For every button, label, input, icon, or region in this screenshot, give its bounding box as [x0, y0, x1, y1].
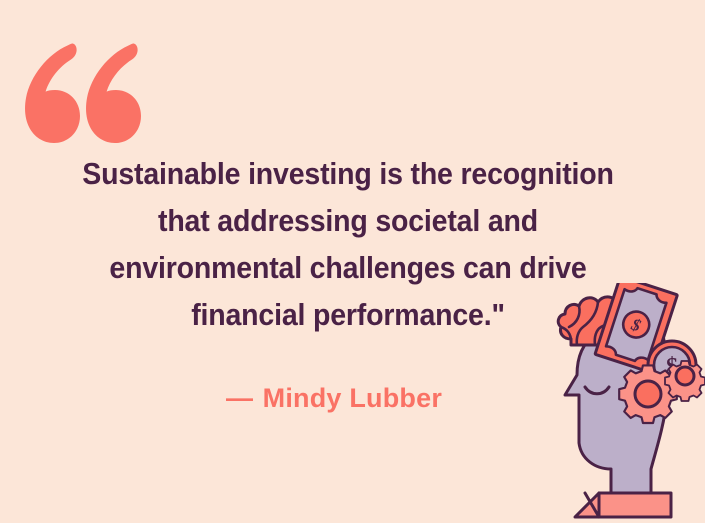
- attribution-author: Mindy Lubber: [263, 383, 442, 413]
- attribution-dash: —: [226, 383, 255, 413]
- quote-attribution: — Mindy Lubber: [48, 381, 620, 415]
- gear-small-shape: [665, 361, 705, 401]
- quote-card: Sustainable investing is the recognition…: [0, 0, 705, 523]
- open-quote-mark: [22, 36, 142, 148]
- collar-shape: [575, 493, 671, 517]
- gear-large-shape: [619, 365, 677, 423]
- head-with-brain-money-gears-illustration: $ $: [555, 283, 705, 523]
- quote-line: Sustainable investing is the recognition: [72, 150, 624, 197]
- quote-line: that addressing societal and: [72, 197, 624, 244]
- quote-text: Sustainable investing is the recognition…: [72, 150, 624, 338]
- quote-line: financial performance.": [72, 291, 624, 338]
- quote-line: environmental challenges can drive: [72, 244, 624, 291]
